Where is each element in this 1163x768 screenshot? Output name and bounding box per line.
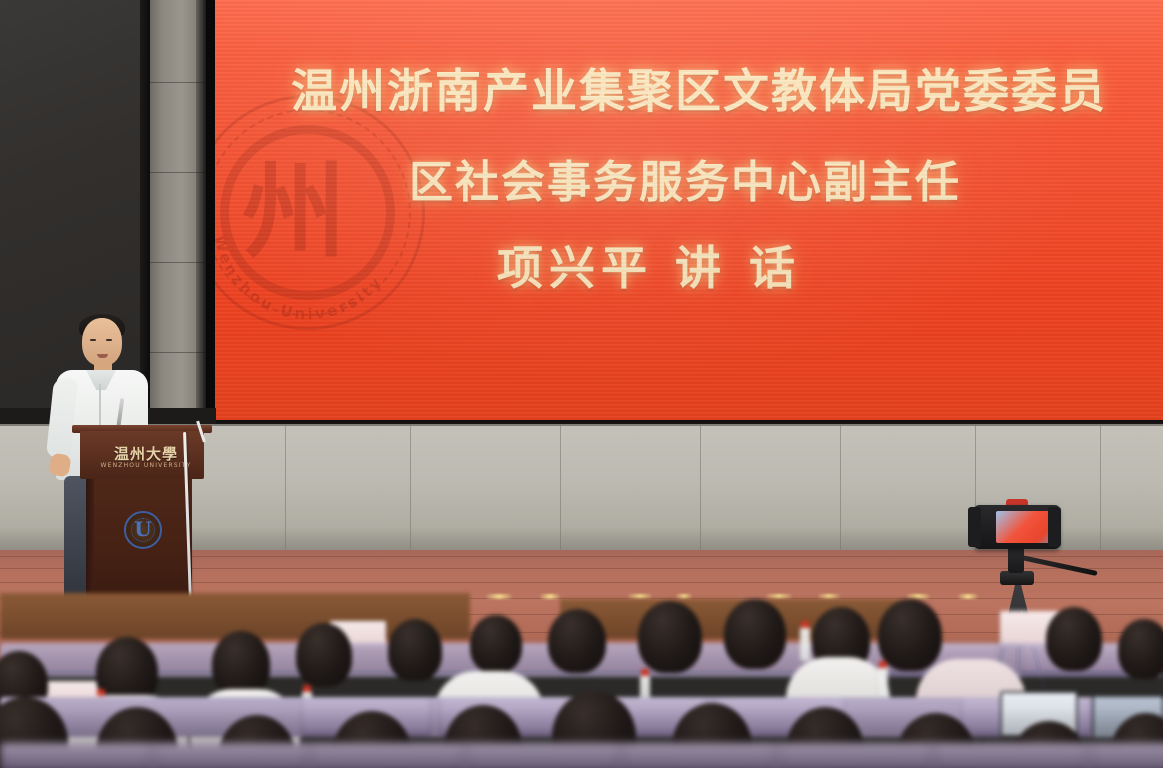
seat-row-near [0,743,1163,768]
seat [312,743,462,768]
seat [624,743,774,768]
audience-head [1046,607,1102,671]
seat [156,743,306,768]
audience-head [638,601,702,673]
screen-title-line-2: 区社会事务服务中心副主任 [215,146,1159,210]
auditorium-scene: 州 Wenzhou University 温州浙南产业集聚区文教体局党委委员 区… [0,0,1163,768]
audience-head [1118,619,1163,679]
led-screen-text-block: 温州浙南产业集聚区文教体局党委委员 区社会事务服务中心副主任 项兴平 讲 话 [215,0,1163,422]
led-screen: 州 Wenzhou University 温州浙南产业集聚区文教体局党委委员 区… [215,0,1163,422]
audience-head [388,619,442,681]
audience-head [878,599,942,671]
screen-title-line-1: 温州浙南产业集聚区文教体局党委委员 [225,55,1163,121]
seat [0,743,150,768]
speaker-head [82,318,122,366]
seat [936,743,1086,768]
water-bottle [800,627,810,661]
tripod-hub [1000,571,1034,585]
speaker-eye-right [106,339,112,341]
audience-head [212,631,270,697]
podium-name-cn: 温州大學 [80,443,212,464]
seat [780,743,930,768]
water-bottle [878,667,888,701]
audience-head [470,615,522,673]
speaker-eye-left [90,339,96,341]
screen-title-line-3: 项兴平 讲 话 [215,232,1123,298]
audience-head [724,599,786,669]
seat [1092,743,1163,768]
podium-name-en: WENZHOU UNIVERSITY [80,462,212,469]
phone-clamp-left [968,507,981,547]
seat [468,743,618,768]
audience-area [0,585,1163,768]
university-emblem-icon [124,511,162,549]
audience-head [296,623,352,687]
audience-head [548,609,606,673]
phone-clamp-right [1048,507,1061,547]
tripod-head [1008,547,1024,573]
